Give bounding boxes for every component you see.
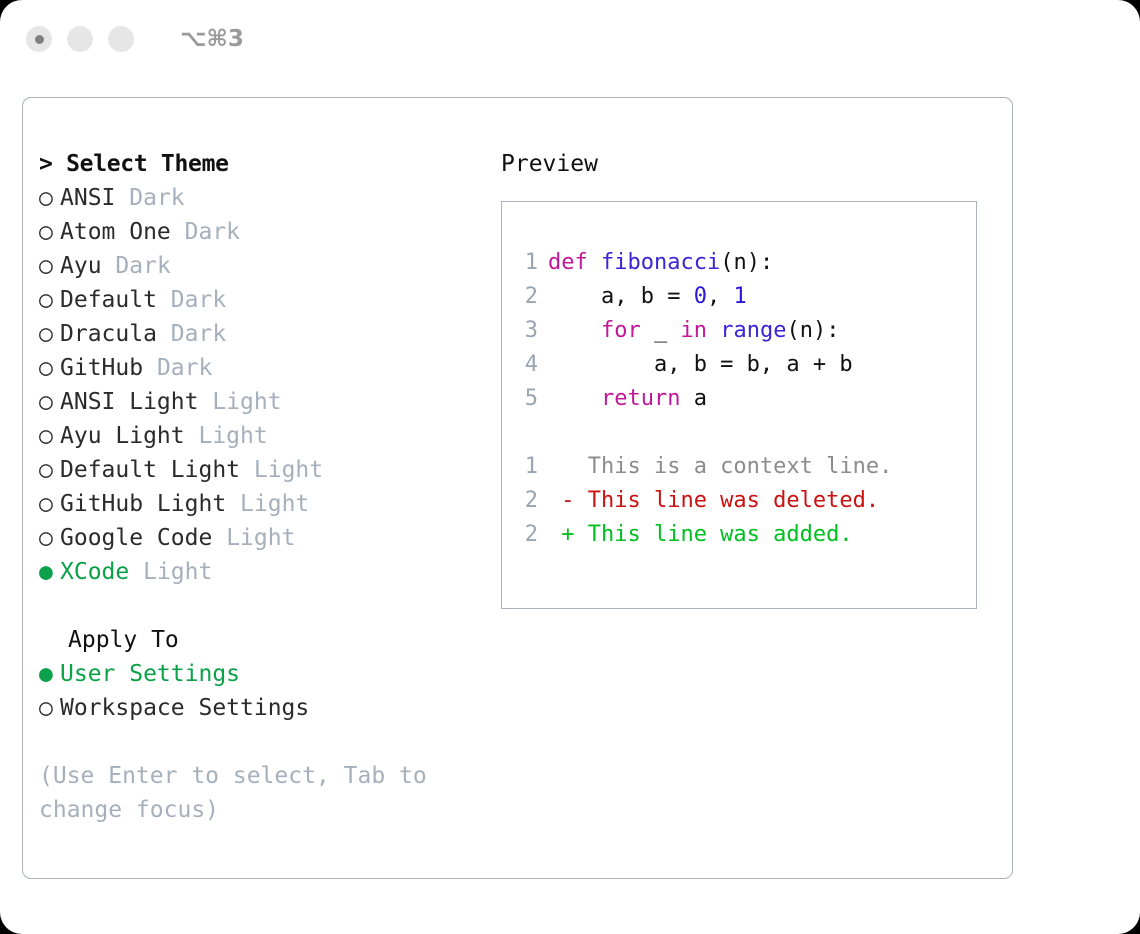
radio-unselected-icon: ○ [39, 521, 60, 555]
select-theme-heading: > Select Theme [39, 147, 479, 181]
line-number: 3 [514, 314, 538, 348]
code-token-plain: a, b = [548, 284, 694, 309]
apply-to-options: ●User Settings○Workspace Settings [39, 657, 479, 725]
code-line: 1def fibonacci(n): [514, 246, 976, 280]
theme-option-ansi-light[interactable]: ○ANSI Light Light [39, 385, 479, 419]
theme-option-separator [240, 457, 254, 483]
line-number: 2 [514, 518, 538, 552]
theme-option-kind: Dark [185, 219, 240, 245]
code-token-plain: , [707, 284, 734, 309]
theme-option-separator [157, 321, 171, 347]
code-token-plain: a, b = b, a + b [548, 352, 853, 377]
line-number: 2 [514, 280, 538, 314]
code-token-num: 1 [733, 284, 746, 309]
theme-option-name: Atom One [60, 219, 171, 245]
apply-to-option-label: User Settings [60, 661, 240, 687]
code-line: 2 a, b = 0, 1 [514, 280, 976, 314]
code-token-plain [707, 318, 720, 343]
theme-option-name: Google Code [60, 525, 212, 551]
code-line: 2 + This line was added. [514, 518, 976, 552]
theme-option-kind: Dark [129, 185, 184, 211]
code-token-fn: range [720, 318, 786, 343]
radio-selected-icon: ● [39, 657, 60, 691]
code-token-ctx: This is a context line. [548, 454, 892, 479]
theme-option-separator [143, 355, 157, 381]
code-diff-spacer [514, 416, 976, 450]
theme-option-default-light[interactable]: ○Default Light Light [39, 453, 479, 487]
diff-sample-block: 1 This is a context line.2 - This line w… [514, 450, 976, 552]
theme-option-ayu-light[interactable]: ○Ayu Light Light [39, 419, 479, 453]
theme-option-default[interactable]: ○Default Dark [39, 283, 479, 317]
window-titlebar: ⌥⌘3 [0, 0, 1140, 78]
radio-unselected-icon: ○ [39, 317, 60, 351]
code-line: 2 - This line was deleted. [514, 484, 976, 518]
radio-unselected-icon: ○ [39, 691, 60, 725]
terminal-window: ⌥⌘3 > Select Theme ○ANSI Dark○Atom One D… [0, 0, 1140, 934]
apply-to-option-label: Workspace Settings [60, 695, 309, 721]
theme-option-name: Default [60, 287, 157, 313]
theme-option-kind: Light [198, 423, 267, 449]
theme-option-name: XCode [60, 559, 129, 585]
theme-option-atom-one[interactable]: ○Atom One Dark [39, 215, 479, 249]
theme-option-ansi[interactable]: ○ANSI Dark [39, 181, 479, 215]
theme-option-separator [115, 185, 129, 211]
line-number: 4 [514, 348, 538, 382]
radio-unselected-icon: ○ [39, 215, 60, 249]
theme-option-kind: Light [143, 559, 212, 585]
theme-option-name: Dracula [60, 321, 157, 347]
theme-option-kind: Light [226, 525, 295, 551]
code-line: 4 a, b = b, a + b [514, 348, 976, 382]
radio-unselected-icon: ○ [39, 487, 60, 521]
theme-option-name: GitHub Light [60, 491, 226, 517]
line-number: 1 [514, 246, 538, 280]
section-spacer [39, 589, 479, 623]
theme-option-separator [129, 559, 143, 585]
theme-option-kind: Dark [171, 287, 226, 313]
code-token-kw: return [601, 386, 680, 411]
code-line: 5 return a [514, 382, 976, 416]
apply-to-option-user-settings[interactable]: ●User Settings [39, 657, 479, 691]
keyboard-hint-text: (Use Enter to select, Tab to change focu… [39, 759, 449, 827]
theme-option-name: Ayu [60, 253, 102, 279]
theme-option-name: Ayu Light [60, 423, 185, 449]
preview-column: Preview 1def fibonacci(n):2 a, b = 0, 13… [501, 147, 1001, 609]
code-token-add: + This line was added. [548, 522, 853, 547]
theme-option-github-light[interactable]: ○GitHub Light Light [39, 487, 479, 521]
theme-option-name: ANSI Light [60, 389, 198, 415]
code-token-del: - This line was deleted. [548, 488, 879, 513]
window-button-secondary[interactable] [67, 26, 93, 52]
theme-selector-column: > Select Theme ○ANSI Dark○Atom One Dark○… [39, 147, 479, 827]
code-token-plain [548, 318, 601, 343]
preview-heading: Preview [501, 147, 1001, 181]
window-button-primary[interactable] [26, 26, 52, 52]
window-button-primary-indicator [35, 35, 44, 44]
main-content-panel: > Select Theme ○ANSI Dark○Atom One Dark○… [22, 97, 1013, 879]
theme-option-separator [157, 287, 171, 313]
code-token-plain: (n): [720, 250, 773, 275]
line-number: 1 [514, 450, 538, 484]
theme-option-separator [212, 525, 226, 551]
theme-option-name: Default Light [60, 457, 240, 483]
theme-option-google-code[interactable]: ○Google Code Light [39, 521, 479, 555]
theme-option-name: ANSI [60, 185, 115, 211]
theme-option-xcode[interactable]: ●XCode Light [39, 555, 479, 589]
theme-option-separator [198, 389, 212, 415]
code-token-plain: _ [641, 318, 681, 343]
radio-unselected-icon: ○ [39, 249, 60, 283]
radio-unselected-icon: ○ [39, 351, 60, 385]
theme-option-separator [226, 491, 240, 517]
code-token-kw: in [680, 318, 707, 343]
theme-option-kind: Dark [171, 321, 226, 347]
code-sample-block: 1def fibonacci(n):2 a, b = 0, 13 for _ i… [514, 246, 976, 416]
theme-option-kind: Light [240, 491, 309, 517]
theme-option-kind: Dark [157, 355, 212, 381]
radio-unselected-icon: ○ [39, 453, 60, 487]
theme-option-ayu[interactable]: ○Ayu Dark [39, 249, 479, 283]
theme-option-kind: Dark [115, 253, 170, 279]
radio-unselected-icon: ○ [39, 419, 60, 453]
theme-option-name: GitHub [60, 355, 143, 381]
apply-to-option-workspace-settings[interactable]: ○Workspace Settings [39, 691, 479, 725]
code-line: 1 This is a context line. [514, 450, 976, 484]
theme-option-separator [102, 253, 116, 279]
code-line: 3 for _ in range(n): [514, 314, 976, 348]
radio-unselected-icon: ○ [39, 385, 60, 419]
theme-list: ○ANSI Dark○Atom One Dark○Ayu Dark○Defaul… [39, 181, 479, 589]
radio-unselected-icon: ○ [39, 283, 60, 317]
code-token-plain [548, 386, 601, 411]
radio-unselected-icon: ○ [39, 181, 60, 215]
code-token-fn: fibonacci [601, 250, 720, 275]
code-token-kw: for [601, 318, 641, 343]
theme-option-separator [185, 423, 199, 449]
line-number: 2 [514, 484, 538, 518]
theme-option-separator [171, 219, 185, 245]
theme-preview-box: 1def fibonacci(n):2 a, b = 0, 13 for _ i… [501, 201, 977, 609]
code-token-plain: (n): [786, 318, 839, 343]
keyboard-shortcut-label: ⌥⌘3 [180, 26, 244, 52]
code-token-num: 0 [694, 284, 707, 309]
code-token-kw: def [548, 250, 601, 275]
theme-option-github[interactable]: ○GitHub Dark [39, 351, 479, 385]
theme-option-kind: Light [212, 389, 281, 415]
theme-option-kind: Light [254, 457, 323, 483]
theme-option-dracula[interactable]: ○Dracula Dark [39, 317, 479, 351]
code-token-plain: a [680, 386, 707, 411]
radio-selected-icon: ● [39, 555, 60, 589]
window-button-tertiary[interactable] [108, 26, 134, 52]
apply-to-label: Apply To [39, 623, 479, 657]
line-number: 5 [514, 382, 538, 416]
